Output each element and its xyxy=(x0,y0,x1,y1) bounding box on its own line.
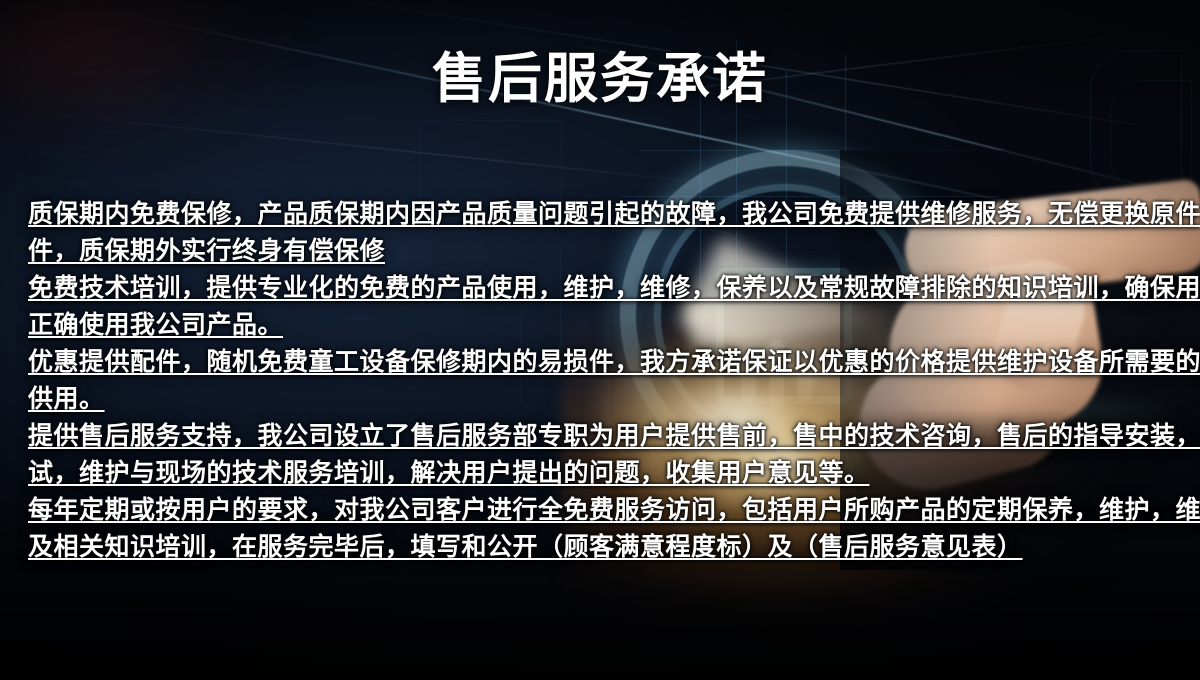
paragraph-free-technical-training: 免费技术培训，提供专业化的免费的产品使用，维护，维修，保养以及常规故障排除的知识… xyxy=(28,270,1200,344)
slide-canvas: 售后服务承诺 质保期内免费保修，产品质保期内因产品质量问题引起的故障，我公司免费… xyxy=(0,0,1200,680)
paragraph-annual-service-visits: 每年定期或按用户的要求，对我公司客户进行全免费服务访问，包括用户所购产品的定期保… xyxy=(28,492,1200,566)
paragraph-warranty-free-repair: 质保期内免费保修，产品质保期内因产品质量问题引起的故障，我公司免费提供维修服务，… xyxy=(28,196,1200,270)
paragraph-discounted-spare-parts: 优惠提供配件，随机免费童工设备保修期内的易损件，我方承诺保证以优惠的价格提供维护… xyxy=(28,344,1200,418)
promise-text-block: 质保期内免费保修，产品质保期内因产品质量问题引起的故障，我公司免费提供维修服务，… xyxy=(28,196,1200,566)
paragraph-text: 提供售后服务支持，我公司设立了售后服务部专职为用户提供售前，售中的技术咨询，售后… xyxy=(28,422,1200,487)
paragraph-after-sales-support: 提供售后服务支持，我公司设立了售后服务部专职为用户提供售前，售中的技术咨询，售后… xyxy=(28,418,1200,492)
page-title: 售后服务承诺 xyxy=(0,52,1200,106)
paragraph-text: 优惠提供配件，随机免费童工设备保修期内的易损件，我方承诺保证以优惠的价格提供维护… xyxy=(28,348,1200,413)
paragraph-text: 每年定期或按用户的要求，对我公司客户进行全免费服务访问，包括用户所购产品的定期保… xyxy=(28,496,1200,561)
paragraph-text: 免费技术培训，提供专业化的免费的产品使用，维护，维修，保养以及常规故障排除的知识… xyxy=(28,274,1200,339)
paragraph-text: 质保期内免费保修，产品质保期内因产品质量问题引起的故障，我公司免费提供维修服务，… xyxy=(28,200,1200,265)
